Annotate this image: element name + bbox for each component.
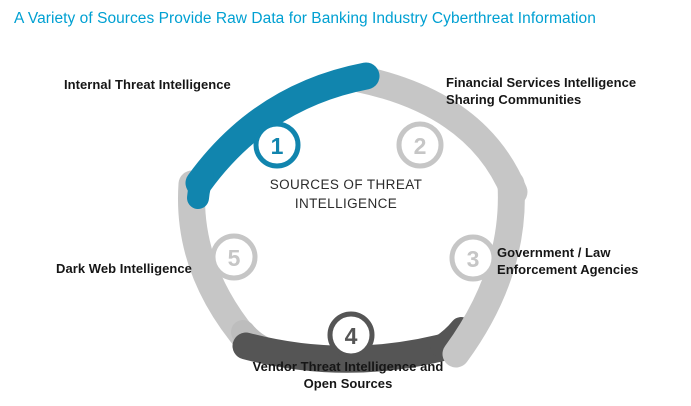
pentagon-cycle-diagram: 1 2 3 4 5 SOURCES OF THREAT INTELLIGENCE… xyxy=(0,32,691,406)
node-number-4: 4 xyxy=(345,323,358,349)
segment-label-3-line-2: Enforcement Agencies xyxy=(497,261,687,278)
node-number-1: 1 xyxy=(271,133,284,159)
segment-label-3: Government / Law Enforcement Agencies xyxy=(497,244,687,278)
segment-label-5: Dark Web Intelligence xyxy=(56,260,236,277)
segment-label-4-line-1: Vendor Threat Intelligence and xyxy=(231,358,465,375)
segment-label-1-line-1: Internal Threat Intelligence xyxy=(64,76,279,93)
node-number-2: 2 xyxy=(414,133,427,159)
segment-label-2-line-1: Financial Services Intelligence xyxy=(446,74,666,91)
page-title: A Variety of Sources Provide Raw Data fo… xyxy=(14,9,679,29)
center-caption-line-1: SOURCES OF THREAT xyxy=(246,175,446,194)
center-caption-line-2: INTELLIGENCE xyxy=(246,194,446,213)
node-number-3: 3 xyxy=(467,246,480,272)
segment-label-4-line-2: Open Sources xyxy=(231,375,465,392)
segment-label-1: Internal Threat Intelligence xyxy=(64,76,279,93)
segment-label-2-line-2: Sharing Communities xyxy=(446,91,666,108)
segment-1-corner-taper-bottom xyxy=(198,175,203,198)
segment-label-5-line-1: Dark Web Intelligence xyxy=(56,260,236,277)
segment-label-2: Financial Services Intelligence Sharing … xyxy=(446,74,666,108)
center-caption: SOURCES OF THREAT INTELLIGENCE xyxy=(246,175,446,213)
segment-label-3-line-1: Government / Law xyxy=(497,244,687,261)
segment-label-4: Vendor Threat Intelligence and Open Sour… xyxy=(231,358,465,392)
